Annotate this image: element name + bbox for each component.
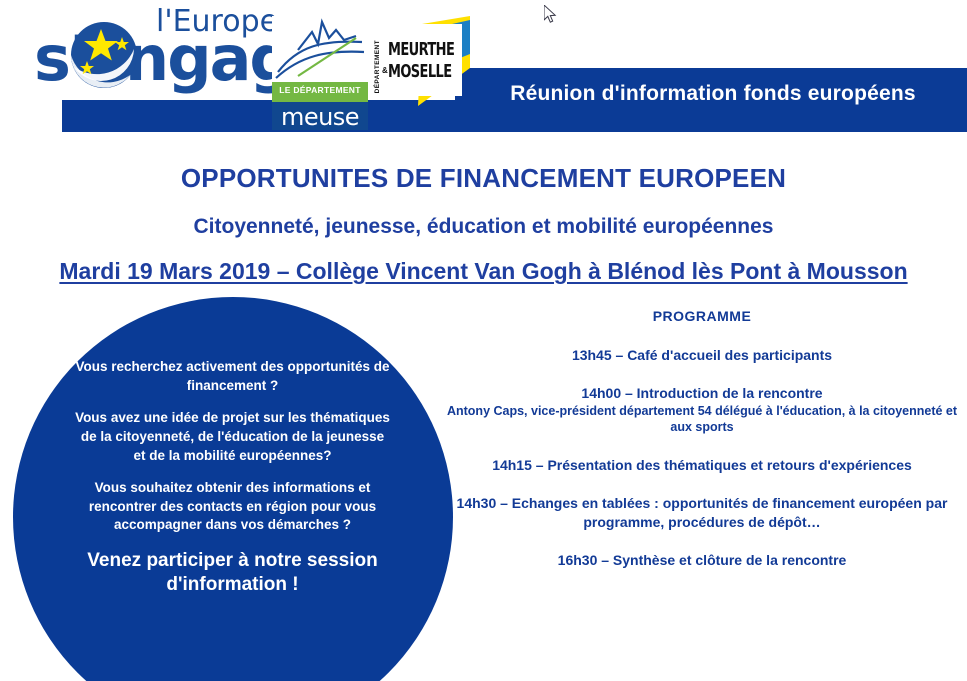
page-subtitle: Citoyenneté, jeunesse, éducation et mobi… (0, 215, 967, 239)
eu-stars-roundel-icon (70, 21, 138, 89)
meurthe-moselle-word-one: MEURTHE (388, 40, 454, 60)
banner-title: Réunion d'information fonds européens (468, 82, 958, 106)
meuse-tagline: LE DÉPARTEMENT (272, 85, 368, 95)
programme-item: 14h30 – Echanges en tablées : opportunit… (437, 494, 967, 531)
meuse-wordmark: meuse (272, 103, 368, 131)
circle-paragraph: Vous souhaitez obtenir des informations … (75, 479, 390, 535)
programme-item: 16h30 – Synthèse et clôture de la rencon… (437, 551, 967, 569)
circle-call-to-action: Venez participer à notre session d'infor… (75, 549, 390, 598)
l-europe-s-engage-logo: l'Europe s' ngage (34, 4, 284, 109)
meuse-departement-logo: LE DÉPARTEMENT meuse (272, 16, 368, 130)
header-zone: Réunion d'information fonds européens l'… (0, 0, 967, 140)
circle-paragraph: Vous recherchez activement des opportuni… (75, 358, 390, 395)
programme-item-detail: Antony Caps, vice-président département … (437, 403, 967, 436)
event-date-location: Mardi 19 Mars 2019 – Collège Vincent Van… (0, 258, 967, 285)
programme-section: PROGRAMME 13h45 – Café d'accueil des par… (437, 308, 967, 590)
circle-callout-text: Vous recherchez activement des opportuni… (75, 358, 390, 598)
page-title: OPPORTUNITES DE FINANCEMENT EUROPEEN (0, 163, 967, 194)
programme-item: 14h15 – Présentation des thématiques et … (437, 456, 967, 474)
programme-item: 14h00 – Introduction de la rencontre Ant… (437, 384, 967, 435)
programme-heading: PROGRAMME (437, 308, 967, 324)
meuse-landscape-icon (272, 16, 368, 82)
programme-item-main: 13h45 – Café d'accueil des participants (437, 346, 967, 364)
programme-item-main: 16h30 – Synthèse et clôture de la rencon… (437, 551, 967, 569)
programme-item-main: 14h00 – Introduction de la rencontre (437, 384, 967, 402)
meurthe-moselle-word-two: MOSELLE (388, 62, 451, 82)
programme-item-main: 14h30 – Echanges en tablées : opportunit… (437, 494, 967, 531)
meurthe-moselle-ampersand: & (382, 66, 388, 75)
programme-item: 13h45 – Café d'accueil des participants (437, 346, 967, 364)
programme-item-main: 14h15 – Présentation des thématiques et … (437, 456, 967, 474)
meurthe-et-moselle-departement-logo: DÉPARTEMENT & MEURTHE MOSELLE (370, 10, 470, 115)
meurthe-moselle-vertical-label: DÉPARTEMENT (374, 40, 381, 93)
circle-paragraph: Vous avez une idée de projet sur les thé… (75, 409, 390, 465)
poster-page: Réunion d'information fonds européens l'… (0, 0, 967, 681)
